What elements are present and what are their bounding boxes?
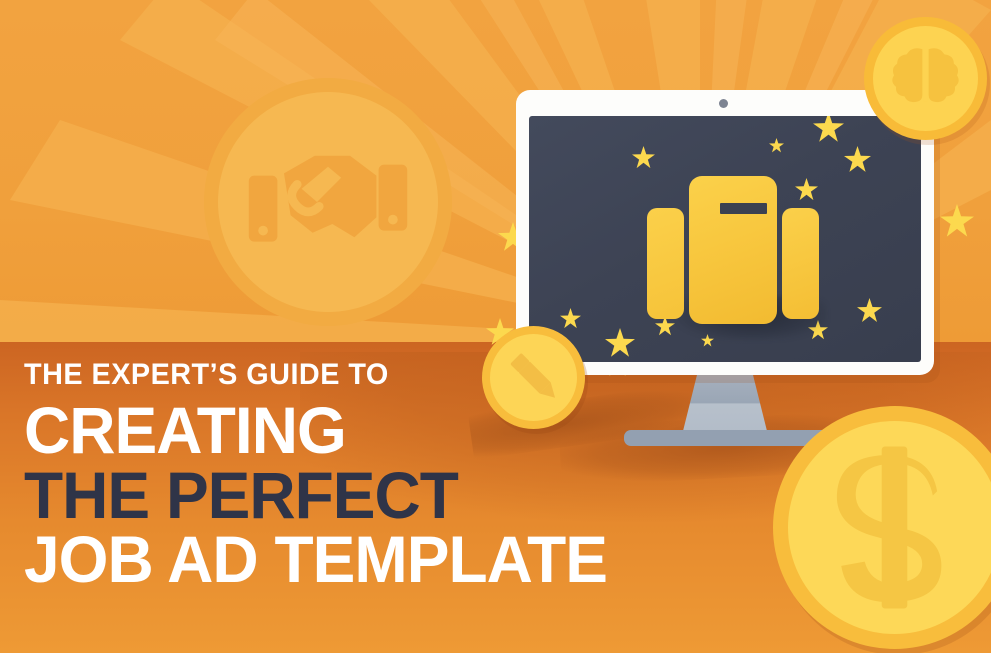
brain-icon xyxy=(873,26,978,131)
briefcase-left-panel xyxy=(647,208,684,319)
monitor-bezel xyxy=(516,90,934,375)
headline-block: THE EXPERT’S GUIDE TO CREATING THE PERFE… xyxy=(24,360,784,590)
headline-line-1: CREATING xyxy=(24,400,761,461)
star-icon xyxy=(605,328,635,358)
briefcase-handle-slot xyxy=(720,203,767,214)
briefcase-right-panel xyxy=(782,208,819,319)
dollar-sign-icon xyxy=(788,421,991,634)
handshake-icon xyxy=(218,92,438,312)
infographic-banner: THE EXPERT’S GUIDE TO CREATING THE PERFE… xyxy=(0,0,991,653)
star-icon xyxy=(844,146,871,173)
star-icon xyxy=(769,138,784,153)
star-icon xyxy=(632,146,655,169)
coin-face xyxy=(218,92,438,312)
coin-face xyxy=(873,26,978,131)
headline-line-2: THE PERFECT xyxy=(24,465,761,526)
handshake-coin xyxy=(204,78,452,326)
star-icon xyxy=(857,298,882,323)
coin-face xyxy=(788,421,991,634)
webcam-dot xyxy=(719,99,728,108)
star-icon xyxy=(560,308,581,329)
briefcase-body xyxy=(689,176,777,324)
headline-kicker: THE EXPERT’S GUIDE TO xyxy=(24,360,754,390)
brain-coin xyxy=(864,17,987,140)
desktop-monitor xyxy=(516,90,934,395)
star-icon xyxy=(813,116,844,143)
headline-line-3: JOB AD TEMPLATE xyxy=(24,529,761,590)
briefcase-icon xyxy=(647,176,819,324)
monitor-screen xyxy=(529,116,921,362)
dollar-coin xyxy=(773,406,991,649)
